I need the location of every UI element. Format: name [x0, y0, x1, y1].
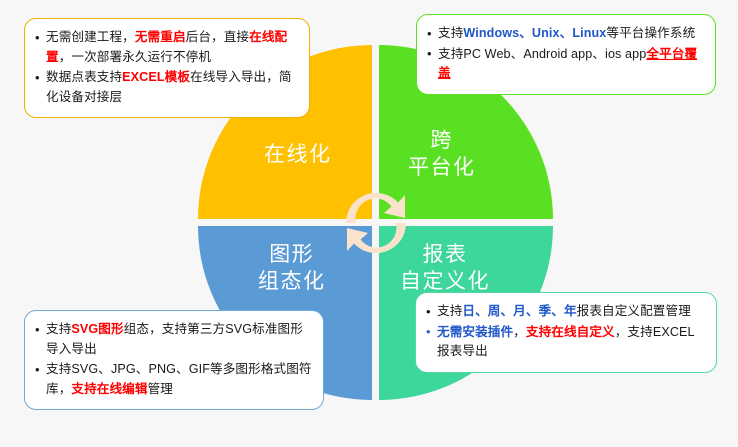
- text-segment: 管理: [148, 382, 173, 396]
- quadrant-label-cross-platform-line2: 平台化: [408, 154, 476, 181]
- feature-list-cross-platform: 支持Windows、Unix、Linux等平台操作系统 支持PC Web、And…: [425, 24, 705, 84]
- text-segment: ，一次部署永久运行不停机: [59, 50, 211, 64]
- quadrant-label-cross-platform: 跨 平台化: [408, 127, 476, 181]
- list-item: 支持PC Web、Android app、ios app全平台覆盖: [425, 45, 705, 84]
- text-segment: 支持在线自定义: [526, 325, 615, 339]
- text-segment: 无需重启: [135, 30, 186, 44]
- callout-box-graphics: 支持SVG图形组态，支持第三方SVG标准图形导入导出 支持SVG、JPG、PNG…: [24, 310, 324, 410]
- text-segment: 直接: [224, 30, 249, 44]
- text-segment: 后台，: [186, 30, 224, 44]
- text-segment: 等平台操作系统: [606, 26, 695, 40]
- callout-box-cross-platform: 支持Windows、Unix、Linux等平台操作系统 支持PC Web、And…: [416, 14, 716, 95]
- text-segment: ，: [513, 325, 526, 339]
- list-item: 支持Windows、Unix、Linux等平台操作系统: [425, 24, 705, 44]
- text-segment: SVG图形: [71, 322, 123, 336]
- list-item: 无需安装插件，支持在线自定义，支持EXCEL报表导出: [424, 323, 706, 362]
- feature-list-graphics: 支持SVG图形组态，支持第三方SVG标准图形导入导出 支持SVG、JPG、PNG…: [33, 320, 313, 399]
- quadrant-label-graphics: 图形 组态化: [258, 241, 326, 295]
- text-segment: 数据点表支持: [46, 70, 122, 84]
- list-item: 支持SVG、JPG、PNG、GIF等多图形格式图符库，支持在线编辑管理: [33, 360, 313, 399]
- list-item: 支持SVG图形组态，支持第三方SVG标准图形导入导出: [33, 320, 313, 359]
- text-segment: Windows、Unix、Linux: [463, 26, 606, 40]
- text-segment: EXCEL模板: [122, 70, 190, 84]
- text-segment: 报表自定义配置管理: [577, 304, 691, 318]
- circular-arrows-icon: [335, 182, 417, 264]
- list-item: 无需创建工程，无需重启后台，直接在线配置，一次部署永久运行不停机: [33, 28, 299, 67]
- text-segment: 支持: [46, 322, 71, 336]
- text-segment: 支持: [438, 26, 463, 40]
- quadrant-label-online: 在线化: [264, 141, 332, 168]
- quadrant-label-graphics-line2: 组态化: [258, 268, 326, 295]
- quadrant-label-online-line1: 在线化: [264, 141, 332, 168]
- quadrant-label-cross-platform-line1: 跨: [408, 127, 476, 154]
- quadrant-label-graphics-line1: 图形: [258, 241, 326, 268]
- text-segment: 支持: [437, 304, 462, 318]
- feature-list-report: 支持日、周、月、季、年报表自定义配置管理 无需安装插件，支持在线自定义，支持EX…: [424, 302, 706, 362]
- text-segment: 无需创建工程，: [46, 30, 135, 44]
- text-segment: 支持在线编辑: [71, 382, 147, 396]
- text-segment: 支持PC Web、Android app、ios app: [438, 47, 646, 61]
- callout-box-online: 无需创建工程，无需重启后台，直接在线配置，一次部署永久运行不停机 数据点表支持E…: [24, 18, 310, 118]
- feature-list-online: 无需创建工程，无需重启后台，直接在线配置，一次部署永久运行不停机 数据点表支持E…: [33, 28, 299, 107]
- text-segment: 无需安装插件: [437, 325, 513, 339]
- quadrant-label-report-line2: 自定义化: [400, 268, 490, 295]
- list-item: 数据点表支持EXCEL模板在线导入导出，简化设备对接层: [33, 68, 299, 107]
- text-segment: 日、周、月、季、年: [462, 304, 576, 318]
- callout-box-report: 支持日、周、月、季、年报表自定义配置管理 无需安装插件，支持在线自定义，支持EX…: [415, 292, 717, 373]
- list-item: 支持日、周、月、季、年报表自定义配置管理: [424, 302, 706, 322]
